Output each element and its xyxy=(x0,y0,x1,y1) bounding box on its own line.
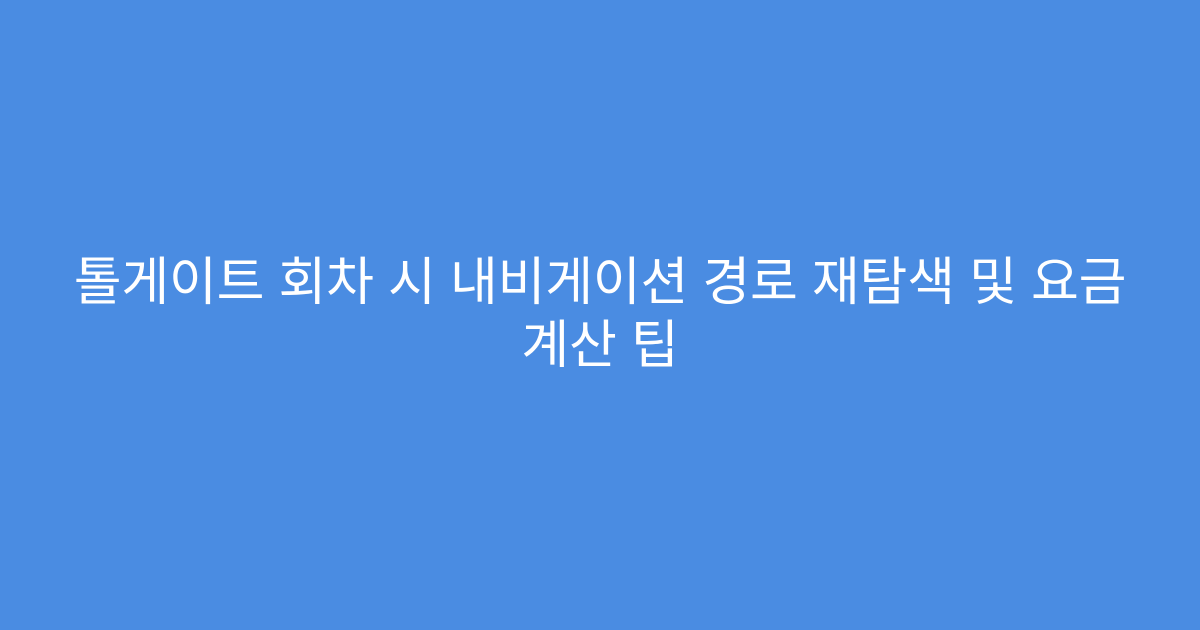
og-card: 톨게이트 회차 시 내비게이션 경로 재탐색 및 요금 계산 팁 xyxy=(0,0,1200,630)
page-title: 톨게이트 회차 시 내비게이션 경로 재탐색 및 요금 계산 팁 xyxy=(68,252,1132,378)
